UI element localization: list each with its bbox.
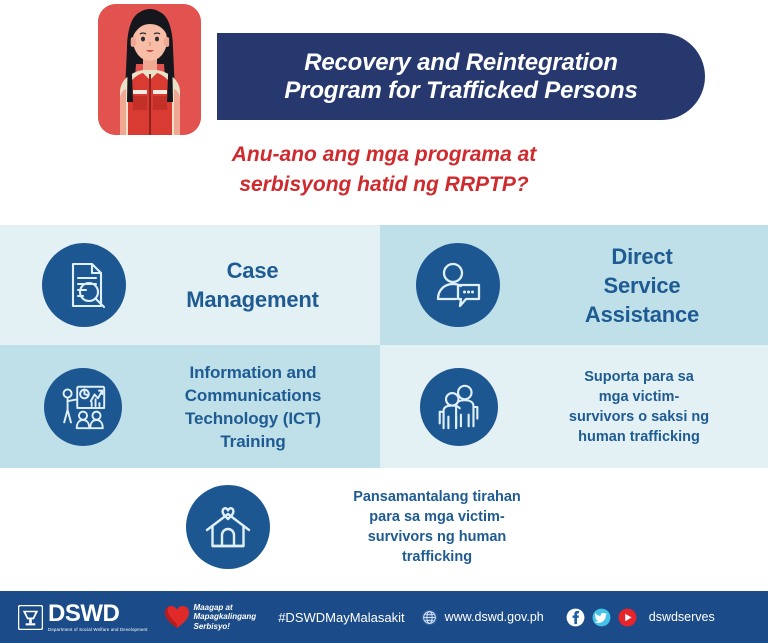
- label-line: Information and: [128, 361, 378, 384]
- label-line: Service: [516, 271, 768, 300]
- presentation-training-icon: [44, 368, 122, 446]
- subtitle-line-2: serbisyong hatid ng RRPTP?: [0, 170, 768, 200]
- two-people-icon: [420, 368, 498, 446]
- dswd-logo-text: DSWD Department of Social Welfare and De…: [48, 602, 148, 633]
- service-label-case-management: Case Management: [130, 256, 375, 314]
- tagline-line: Serbisyo!: [194, 622, 257, 632]
- label-line: Direct: [516, 242, 768, 271]
- dswd-worker-illustration-icon: [98, 4, 201, 135]
- label-line: para sa mga victim-: [292, 507, 582, 527]
- social-handle[interactable]: dswdserves: [649, 610, 715, 625]
- youtube-icon[interactable]: [618, 608, 637, 627]
- dswd-logo: DSWD Department of Social Welfare and De…: [18, 602, 148, 633]
- label-line: Pansamantalang tirahan: [292, 487, 582, 507]
- social-block: dswdserves: [566, 608, 715, 627]
- dswd-logo-subtitle: Department of Social Welfare and Develop…: [48, 626, 148, 633]
- tagline-line: Maagap at: [194, 603, 257, 613]
- globe-icon: [421, 609, 438, 626]
- label-line: Communications: [128, 384, 378, 407]
- dswd-wordmark: DSWD: [48, 602, 148, 626]
- service-card-victim-support: Suporta para sa mga victim- survivors o …: [380, 345, 768, 468]
- poster-header: Recovery and Reintegration Program for T…: [0, 0, 768, 213]
- label-line: Assistance: [516, 300, 768, 329]
- document-magnifier-icon: [42, 243, 126, 327]
- service-label-temporary-shelter: Pansamantalang tirahan para sa mga victi…: [292, 487, 582, 567]
- service-label-victim-support: Suporta para sa mga victim- survivors o …: [510, 367, 768, 447]
- title-line-1: Recovery and Reintegration: [304, 49, 618, 77]
- label-line: Management: [130, 285, 375, 314]
- label-line: Technology (ICT): [128, 407, 378, 430]
- subtitle-line-1: Anu-ano ang mga programa at: [0, 140, 768, 170]
- label-line: Training: [128, 430, 378, 453]
- infographic-poster: Recovery and Reintegration Program for T…: [0, 0, 768, 643]
- dswd-seal-icon: [18, 605, 43, 630]
- service-card-case-management: Case Management: [0, 225, 380, 345]
- service-card-direct-service-assistance: Direct Service Assistance: [380, 225, 768, 345]
- label-line: human trafficking: [510, 427, 768, 447]
- website-url[interactable]: www.dswd.gov.ph: [445, 610, 544, 625]
- title-line-2: Program for Trafficked Persons: [284, 77, 637, 105]
- label-line: Suporta para sa: [510, 367, 768, 387]
- poster-footer: DSWD Department of Social Welfare and De…: [0, 591, 768, 643]
- avatar: [98, 4, 201, 135]
- page-title: Recovery and Reintegration Program for T…: [217, 33, 705, 120]
- twitter-icon[interactable]: [592, 608, 611, 627]
- tagline-text: Maagap at Mapagkalingang Serbisyo!: [194, 603, 257, 632]
- service-label-ict-training: Information and Communications Technolog…: [128, 361, 378, 453]
- heart-icon: [164, 605, 190, 629]
- hashtag-text: #DSWDMayMalasakit: [278, 610, 404, 625]
- label-line: survivors ng human: [292, 527, 582, 547]
- service-label-direct-service-assistance: Direct Service Assistance: [516, 242, 768, 329]
- website-block[interactable]: www.dswd.gov.ph: [421, 609, 544, 626]
- label-line: trafficking: [292, 547, 582, 567]
- tagline-line: Mapagkalingang: [194, 612, 257, 622]
- label-line: Case: [130, 256, 375, 285]
- subtitle: Anu-ano ang mga programa at serbisyong h…: [0, 140, 768, 200]
- service-card-temporary-shelter: Pansamantalang tirahan para sa mga victi…: [0, 468, 768, 585]
- person-chat-icon: [416, 243, 500, 327]
- facebook-icon[interactable]: [566, 608, 585, 627]
- label-line: mga victim-: [510, 387, 768, 407]
- dswd-tagline: Maagap at Mapagkalingang Serbisyo!: [164, 603, 257, 632]
- house-heart-icon: [186, 485, 270, 569]
- label-line: survivors o saksi ng: [510, 407, 768, 427]
- services-grid: Case Management: [0, 225, 768, 468]
- service-card-ict-training: Information and Communications Technolog…: [0, 345, 380, 468]
